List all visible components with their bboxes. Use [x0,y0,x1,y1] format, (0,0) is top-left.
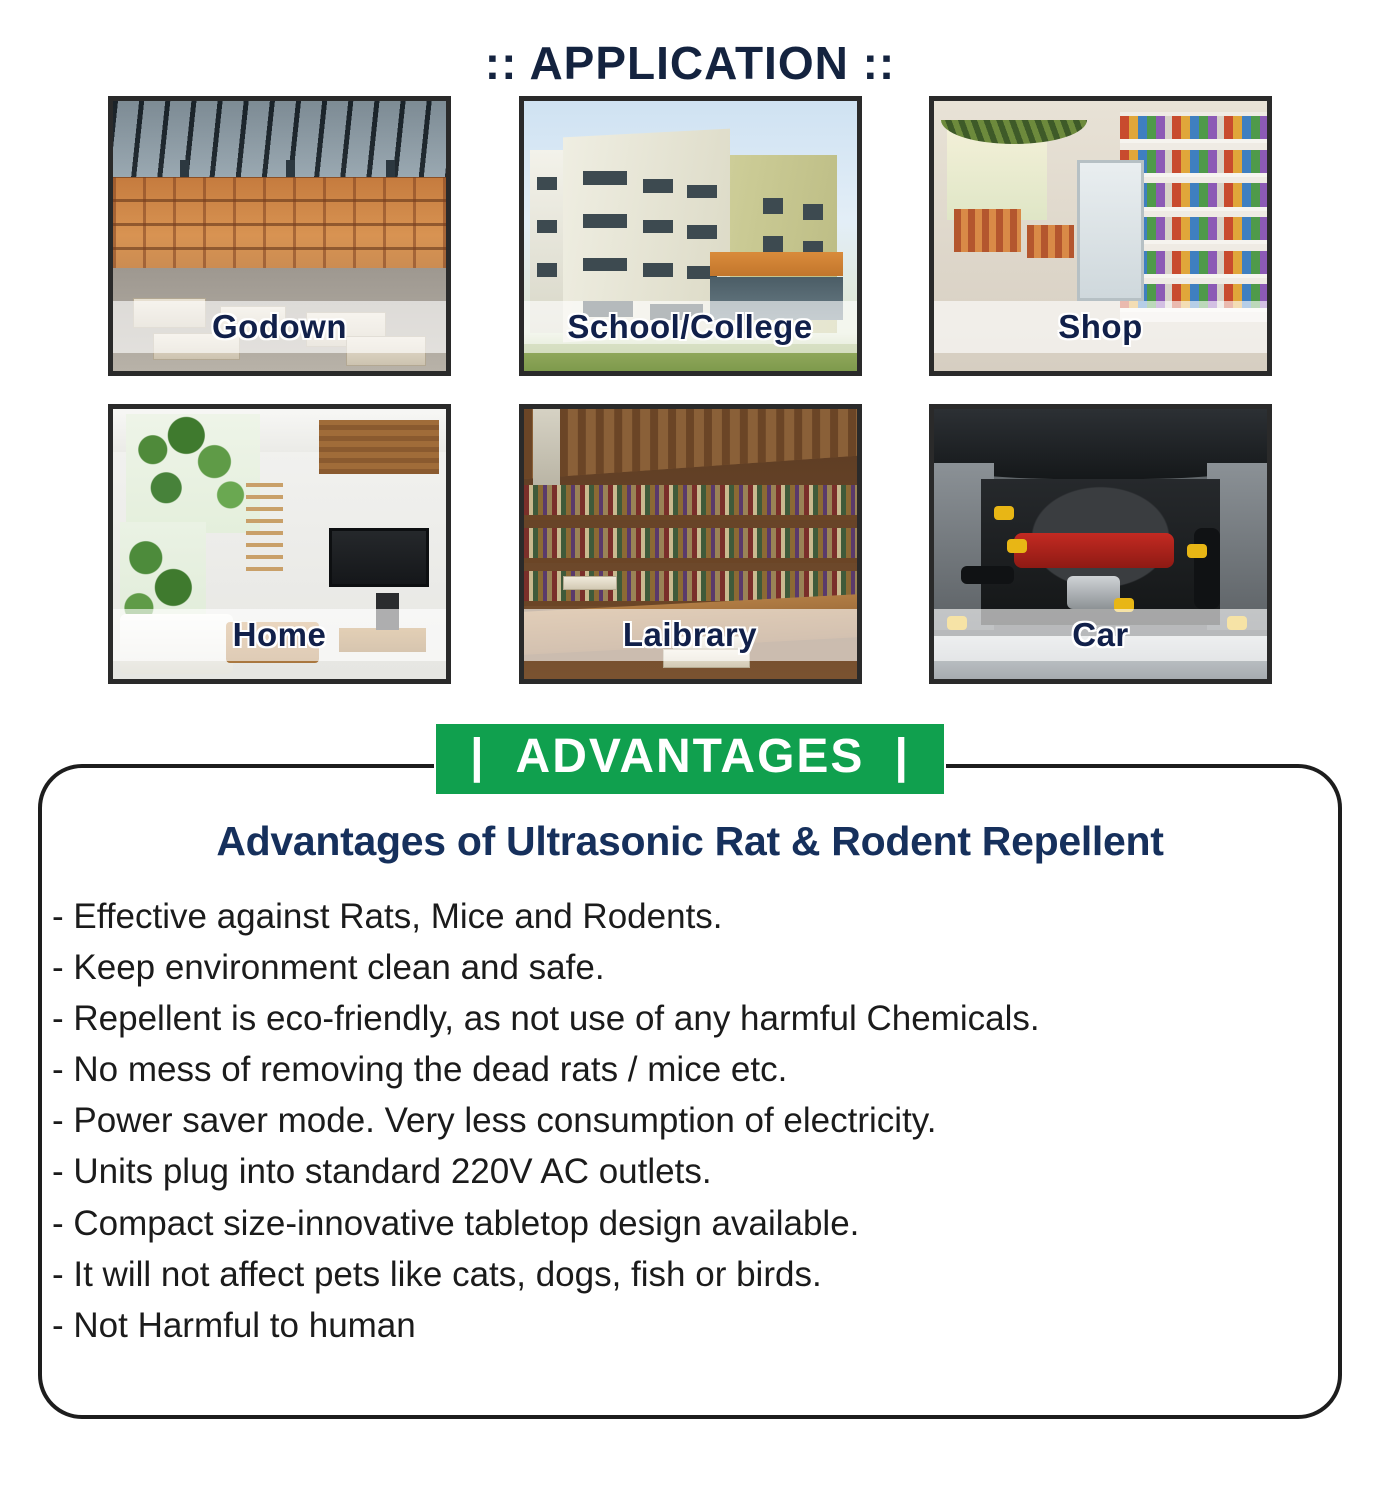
application-tile-school-college: School/College [519,96,862,376]
application-tile-grid: Godown [108,96,1272,684]
tile-label-bar: Home [113,609,446,661]
tile-label-bar: School/College [524,301,857,353]
advantages-banner-label: ADVANTAGES [516,732,865,782]
advantage-item: - It will not affect pets like cats, dog… [52,1249,1380,1300]
advantages-banner-row: | ADVANTAGES | [0,722,1380,796]
application-tile-home: Home [108,404,451,684]
advantages-section: | ADVANTAGES | Advantages of Ultrasonic … [0,722,1380,1351]
advantage-item: - Power saver mode. Very less consumptio… [52,1095,1380,1146]
tile-label: Godown [212,308,347,346]
banner-left-bar-icon: | [470,732,485,782]
advantages-list: - Effective against Rats, Mice and Roden… [0,865,1380,1351]
page-title: :: APPLICATION :: [0,0,1380,96]
tile-label-bar: Shop [934,301,1267,353]
advantages-banner: | ADVANTAGES | [434,722,946,796]
tile-label: Home [233,616,327,654]
application-tile-laibrary: Laibrary [519,404,862,684]
application-tile-shop: Shop [929,96,1272,376]
banner-right-bar-icon: | [894,732,909,782]
tile-label: Car [1072,616,1129,654]
advantage-item: - Repellent is eco-friendly, as not use … [52,993,1380,1044]
advantage-item: - No mess of removing the dead rats / mi… [52,1044,1380,1095]
advantage-item: - Units plug into standard 220V AC outle… [52,1146,1380,1197]
tile-label: Laibrary [623,616,757,654]
advantage-item: - Compact size-innovative tabletop desig… [52,1198,1380,1249]
application-tile-godown: Godown [108,96,451,376]
tile-label: School/College [567,308,812,346]
advantage-item: - Effective against Rats, Mice and Roden… [52,891,1380,942]
tile-label: Shop [1058,308,1142,346]
application-tile-car: Car [929,404,1272,684]
tile-label-bar: Laibrary [524,609,857,661]
tile-label-bar: Godown [113,301,446,353]
tile-label-bar: Car [934,609,1267,661]
advantage-item: - Not Harmful to human [52,1300,1380,1351]
advantage-item: - Keep environment clean and safe. [52,942,1380,993]
